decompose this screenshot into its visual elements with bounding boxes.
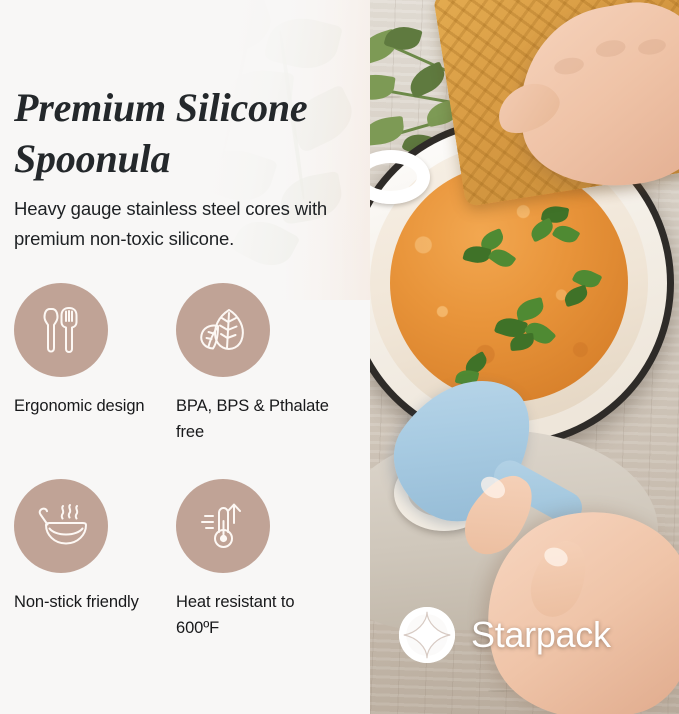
feature-label: BPA, BPS & Pthalate free [176,393,336,445]
cilantro-garnish [496,300,562,354]
frying-pan-icon [33,502,89,550]
cilantro-garnish [530,206,582,250]
cilantro-garnish [464,232,520,278]
cilantro-garnish [564,270,616,314]
feature-label: Ergonomic design [14,393,174,419]
brand-name: Starpack [471,614,611,656]
feature-badge [176,283,270,377]
feature-label: Non-stick friendly [14,589,174,615]
feature-bpa-free: BPA, BPS & Pthalate free [176,283,362,445]
leaves-icon [196,304,250,356]
feature-ergonomic-design: Ergonomic design [14,283,176,445]
feature-badge [14,283,108,377]
brand-logo: Starpack [398,606,611,664]
utensils-icon [38,304,84,356]
page-title: Premium Silicone Spoonula [14,82,364,184]
subtitle: Heavy gauge stainless steel cores with p… [14,194,358,254]
feature-non-stick: Non-stick friendly [14,479,176,641]
copy-panel: Premium Silicone Spoonula Heavy gauge st… [0,0,370,714]
feature-badge [176,479,270,573]
starpack-star-icon [398,606,456,664]
product-infographic: Premium Silicone Spoonula Heavy gauge st… [0,0,679,714]
feature-list: Ergonomic design [14,283,362,641]
feature-label: Heat resistant to 600ºF [176,589,336,641]
feature-badge [14,479,108,573]
feature-heat-resistant: Heat resistant to 600ºF [176,479,362,641]
thermometer-icon [198,499,248,553]
